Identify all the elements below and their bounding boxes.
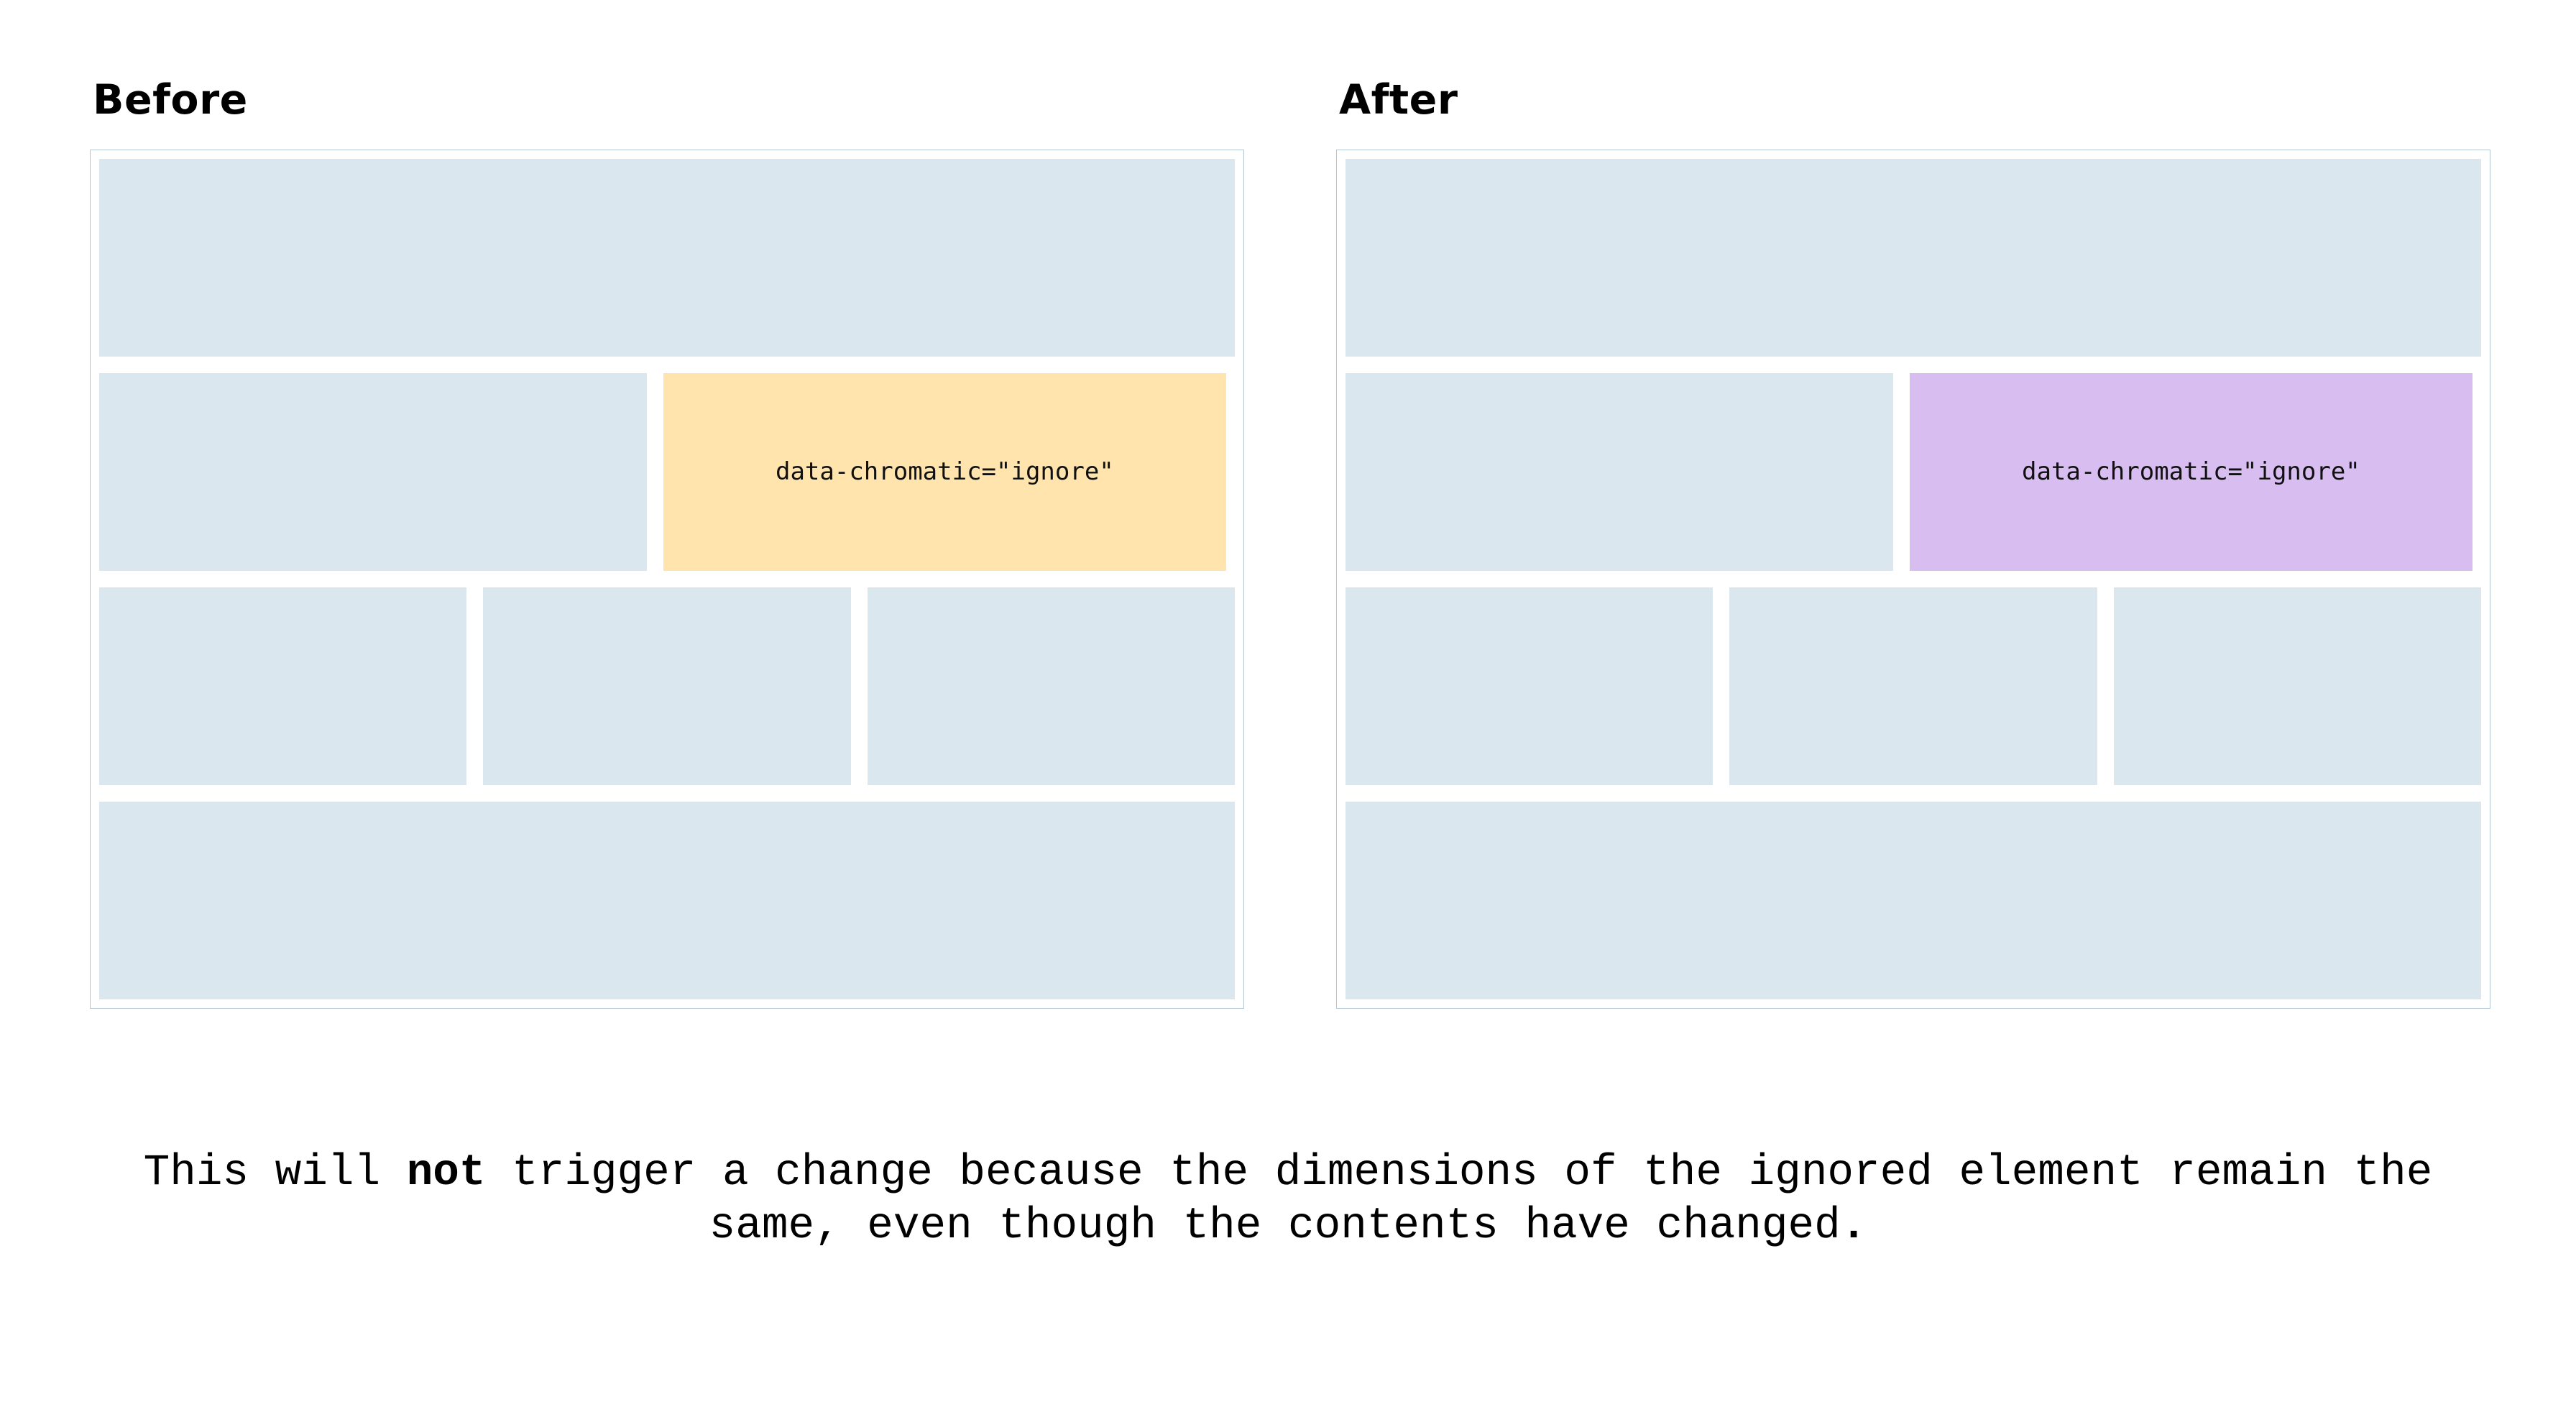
caption-part-2: trigger a change because the dimensions … — [486, 1148, 2433, 1251]
layout-block — [1729, 587, 2097, 785]
panel-heading-before: Before — [93, 79, 1244, 122]
panel-after: After data-chromatic="ignore" — [1336, 79, 2490, 1009]
layout-block — [2114, 587, 2481, 785]
layout-preview-after: data-chromatic="ignore" — [1336, 150, 2490, 1009]
layout-row-2: data-chromatic="ignore" — [1345, 373, 2481, 571]
ignored-element-block-after: data-chromatic="ignore" — [1910, 373, 2473, 571]
caption-part-1: This will — [144, 1148, 407, 1198]
panel-before: Before data-chromatic="ignore" — [90, 79, 1244, 1009]
layout-row-1 — [99, 159, 1235, 357]
layout-block — [1345, 159, 2481, 357]
layout-preview-before: data-chromatic="ignore" — [90, 150, 1244, 1009]
layout-row-4 — [1345, 802, 2481, 999]
layout-block — [99, 373, 647, 571]
layout-row-3 — [99, 587, 1235, 785]
layout-block — [483, 587, 850, 785]
panel-heading-after: After — [1339, 79, 2490, 122]
layout-block — [99, 159, 1235, 357]
layout-block — [868, 587, 1235, 785]
layout-block — [99, 587, 466, 785]
layout-block — [1345, 587, 1713, 785]
figure-caption: This will not trigger a change because t… — [101, 1147, 2475, 1254]
layout-row-3 — [1345, 587, 2481, 785]
layout-block — [1345, 373, 1893, 571]
caption-part-3: . — [1841, 1201, 1867, 1251]
layout-row-4 — [99, 802, 1235, 999]
ignored-element-label: data-chromatic="ignore" — [776, 457, 1114, 486]
layout-row-1 — [1345, 159, 2481, 357]
caption-emphasis: not — [407, 1148, 486, 1198]
ignored-element-block-before: data-chromatic="ignore" — [663, 373, 1227, 571]
comparison-figure: Before data-chromatic="ignore" — [0, 0, 2576, 1402]
layout-row-2: data-chromatic="ignore" — [99, 373, 1235, 571]
layout-block — [99, 802, 1235, 999]
layout-block — [1345, 802, 2481, 999]
ignored-element-label: data-chromatic="ignore" — [2022, 457, 2360, 486]
before-after-comparison: Before data-chromatic="ignore" — [90, 79, 2490, 1009]
